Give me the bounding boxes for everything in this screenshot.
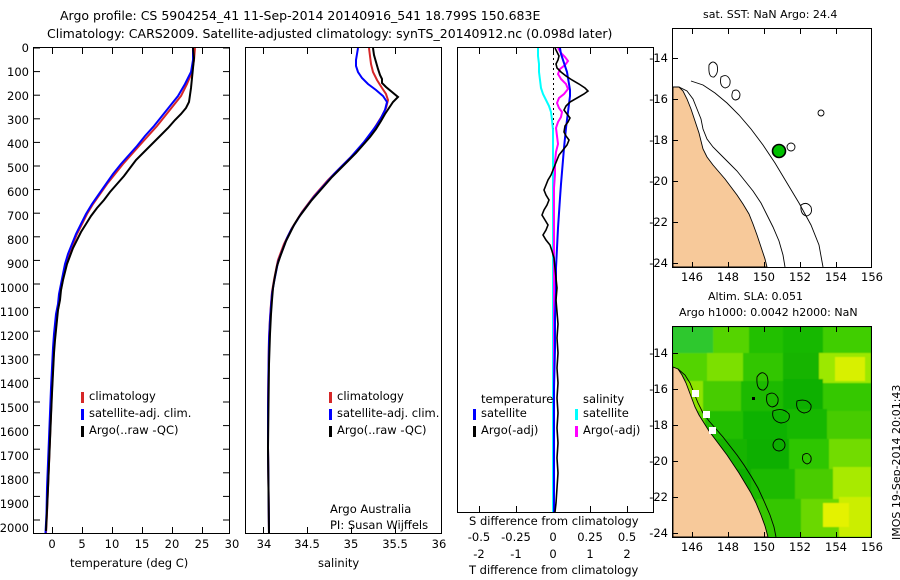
- panel-difference: [457, 47, 654, 513]
- depth-tick: 100: [0, 65, 29, 79]
- depth-tick: 800: [0, 233, 29, 247]
- map-sla-canvas: [673, 327, 871, 537]
- map-sst-ytick: -24: [638, 256, 668, 270]
- map-sla-title-line1: Altim. SLA: 0.051: [708, 290, 803, 303]
- t-difference-axis-label: T difference from climatology: [469, 563, 638, 577]
- legend-swatch-salinity-satellite: [575, 409, 578, 420]
- annotation-argo-australia: Argo Australia: [330, 502, 411, 516]
- temperature-xtick: 20: [157, 537, 187, 551]
- depth-tick: 1700: [0, 449, 29, 463]
- temperature-xtick: 25: [187, 537, 217, 551]
- legend-heading-salinity: salinity: [583, 392, 624, 406]
- figure-title-line2: Climatology: CARS2009. Satellite-adjuste…: [47, 26, 612, 41]
- map-sla-xtick: 146: [676, 540, 708, 554]
- map-sst-xtick: 150: [748, 270, 780, 284]
- depth-tick: 700: [0, 209, 29, 223]
- depth-tick: 2000: [0, 521, 29, 535]
- temperature-xtick: 30: [217, 537, 247, 551]
- salinity-plot: [246, 48, 441, 533]
- map-sst: [672, 28, 872, 268]
- s-difference-xtick: 0: [537, 530, 569, 544]
- temperature-axis-label: temperature (deg C): [70, 556, 188, 570]
- map-sst-ytick: -22: [638, 215, 668, 229]
- depth-tick: 500: [0, 161, 29, 175]
- map-sst-xtick: 156: [856, 270, 888, 284]
- legend-swatch-satellite-adj: [81, 409, 84, 420]
- salinity-xtick: 34.5: [291, 537, 323, 551]
- map-sla-xtick: 150: [748, 540, 780, 554]
- legend-swatch-temperature-satellite: [473, 409, 476, 420]
- map-sst-xtick: 146: [676, 270, 708, 284]
- map-sst-title: sat. SST: NaN Argo: 24.4: [703, 8, 837, 21]
- legend-swatch-climatology-salinity: [329, 392, 332, 403]
- map-sla-ytick: -16: [638, 382, 668, 396]
- t-difference-xtick: -2: [463, 547, 495, 561]
- map-sst-ytick: -20: [638, 174, 668, 188]
- s-difference-xtick: 0.25: [574, 530, 606, 544]
- depth-tick: 1500: [0, 401, 29, 415]
- t-difference-xtick: 0: [537, 547, 569, 561]
- legend-swatch-temperature-argo: [473, 426, 476, 437]
- legend-swatch-argo: [81, 426, 84, 437]
- annotation-pi: PI: Susan Wijffels: [330, 518, 428, 532]
- panel-salinity: [245, 47, 442, 534]
- map-sla-ytick: -24: [638, 526, 668, 540]
- depth-tick: 1400: [0, 377, 29, 391]
- t-difference-xtick: 1: [574, 547, 606, 561]
- map-sla-xtick: 156: [856, 540, 888, 554]
- map-sst-canvas: [673, 29, 871, 267]
- map-sst-ytick: -14: [638, 51, 668, 65]
- depth-tick: 200: [0, 89, 29, 103]
- depth-tick: 1100: [0, 305, 29, 319]
- salinity-xtick: 36: [423, 537, 455, 551]
- panel-temperature: [33, 47, 230, 534]
- temperature-xtick: 10: [97, 537, 127, 551]
- depth-tick: 1900: [0, 497, 29, 511]
- map-sla-xtick: 154: [820, 540, 852, 554]
- legend-label-satellite-adj: satellite-adj. clim.: [89, 406, 191, 420]
- map-sst-ytick: -18: [638, 133, 668, 147]
- legend-swatch-climatology: [81, 392, 84, 403]
- salinity-xtick: 35: [335, 537, 367, 551]
- map-sla: [672, 326, 872, 538]
- temperature-plot: [34, 48, 229, 533]
- depth-tick: 1600: [0, 425, 29, 439]
- salinity-axis-label: salinity: [318, 556, 359, 570]
- depth-tick: 1000: [0, 281, 29, 295]
- s-difference-axis-label: S difference from climatology: [469, 514, 639, 528]
- figure-title-line1: Argo profile: CS 5904254_41 11-Sep-2014 …: [60, 8, 540, 23]
- legend-label-salinity-argo: Argo(-adj): [583, 423, 640, 437]
- legend-label-temperature-satellite: satellite: [481, 406, 527, 420]
- s-difference-xtick: -0.25: [500, 530, 532, 544]
- legend-swatch-argo-salinity: [329, 426, 332, 437]
- difference-plot: [458, 48, 653, 512]
- temperature-xtick: 0: [37, 537, 67, 551]
- depth-tick: 1300: [0, 353, 29, 367]
- map-sst-ytick: -16: [638, 92, 668, 106]
- salinity-xtick: 35.5: [379, 537, 411, 551]
- legend-label-climatology: climatology: [89, 389, 156, 403]
- s-difference-xtick: -0.5: [463, 530, 495, 544]
- depth-tick: 400: [0, 137, 29, 151]
- salinity-xtick: 34: [248, 537, 280, 551]
- legend-label-temperature-argo: Argo(-adj): [481, 423, 538, 437]
- map-sla-ytick: -22: [638, 490, 668, 504]
- legend-swatch-satellite-adj-salinity: [329, 409, 332, 420]
- trajectory-marker[interactable]: [692, 390, 699, 397]
- t-difference-xtick: 2: [611, 547, 643, 561]
- trajectory-marker[interactable]: [709, 427, 716, 434]
- legend-heading-temperature: temperature: [481, 392, 553, 406]
- depth-tick: 900: [0, 257, 29, 271]
- map-sla-ytick: -14: [638, 346, 668, 360]
- depth-tick: 1800: [0, 473, 29, 487]
- map-sla-ytick: -18: [638, 418, 668, 432]
- t-difference-xtick: -1: [500, 547, 532, 561]
- depth-tick: 1200: [0, 329, 29, 343]
- trajectory-marker[interactable]: [703, 411, 710, 418]
- depth-tick: 600: [0, 185, 29, 199]
- legend-label-argo: Argo(..raw -QC): [89, 423, 179, 437]
- depth-tick: 300: [0, 113, 29, 127]
- legend-label-climatology-salinity: climatology: [337, 389, 404, 403]
- legend-label-salinity-satellite: satellite: [583, 406, 629, 420]
- map-sla-xtick: 148: [712, 540, 744, 554]
- map-sst-xtick: 154: [820, 270, 852, 284]
- depth-tick: 0: [0, 41, 29, 55]
- legend-label-satellite-adj-salinity: satellite-adj. clim.: [337, 406, 439, 420]
- map-sla-ytick: -20: [638, 454, 668, 468]
- map-sla-title-line2: Argo h1000: 0.0042 h2000: NaN: [679, 306, 858, 319]
- map-sst-xtick: 148: [712, 270, 744, 284]
- legend-swatch-salinity-argo: [575, 426, 578, 437]
- temperature-xtick: 15: [127, 537, 157, 551]
- map-sla-xtick: 152: [784, 540, 816, 554]
- float-location-marker[interactable]: [773, 145, 786, 158]
- legend-label-argo-salinity: Argo(..raw -QC): [337, 423, 427, 437]
- imos-timestamp: IMOS 19-Sep-2014 20:01:43: [890, 385, 900, 540]
- temperature-xtick: 5: [67, 537, 97, 551]
- map-sst-xtick: 152: [784, 270, 816, 284]
